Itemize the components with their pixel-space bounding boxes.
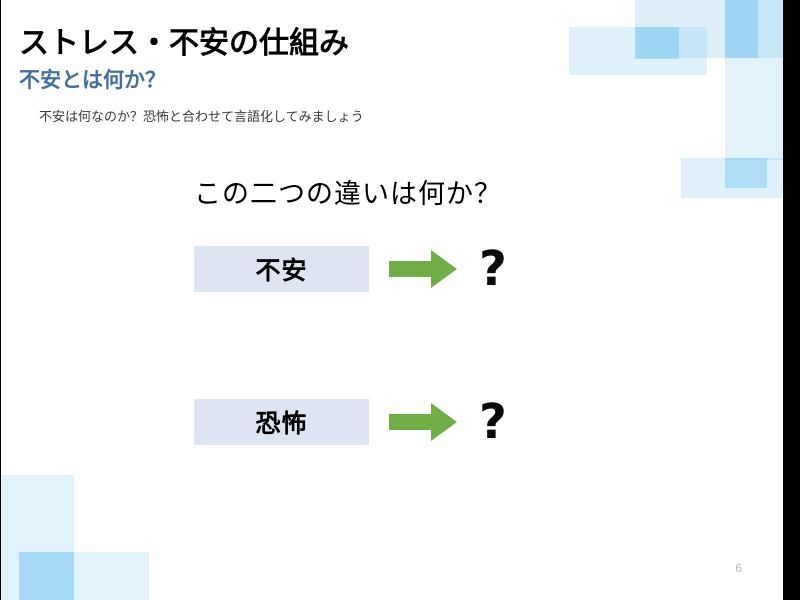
answer-placeholder: ? — [479, 398, 507, 446]
decoration-rect-top-right-3 — [635, 27, 679, 59]
term-label: 恐怖 — [255, 404, 307, 440]
presentation-slide: ストレス・不安の仕組み 不安とは何か？ 不安は何なのか？恐怖と合わせて言語化して… — [0, 0, 800, 600]
right-arrow-icon — [369, 399, 477, 445]
decoration-rect-top-right-4 — [725, 0, 758, 58]
comparison-row: 不安 ? — [194, 246, 564, 292]
section-subtitle: 不安は何なのか？恐怖と合わせて言語化してみましょう — [39, 106, 364, 125]
answer-placeholder: ? — [479, 245, 507, 293]
right-arrow-icon-svg — [389, 403, 457, 441]
slide-canvas: ストレス・不安の仕組み 不安とは何か？ 不安は何なのか？恐怖と合わせて言語化して… — [1, 0, 783, 600]
decoration-rect-bottom-left-3 — [19, 552, 74, 600]
term-box-fear: 恐怖 — [194, 399, 369, 445]
letterbox-right — [783, 0, 800, 600]
term-label: 不安 — [255, 251, 307, 287]
section-heading: 不安とは何か？ — [19, 64, 166, 94]
term-box-anxiety: 不安 — [194, 246, 369, 292]
letterbox-left — [0, 0, 1, 600]
slide-title: ストレス・不安の仕組み — [19, 18, 349, 62]
center-question: この二つの違いは何か？ — [194, 172, 502, 211]
comparison-row: 恐怖 ? — [194, 399, 564, 445]
right-arrow-icon-svg — [389, 250, 457, 288]
page-number: 6 — [735, 561, 742, 575]
right-arrow-icon — [369, 246, 477, 292]
decoration-rect-top-right-7 — [725, 158, 767, 188]
